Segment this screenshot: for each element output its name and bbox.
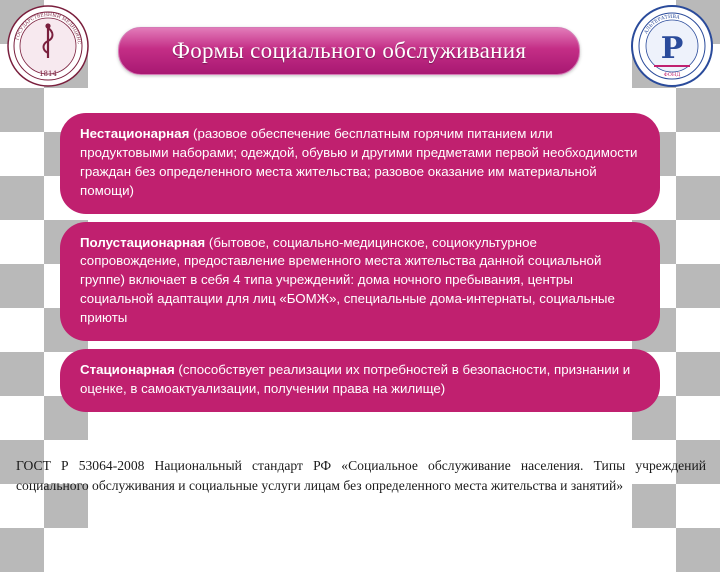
slide-title-banner: Формы социального обслуживания [118, 27, 580, 75]
page-title: Формы социального обслуживания [172, 38, 526, 64]
block-nestacionarnaya: Нестационарная (разовое обеспечение бесп… [60, 113, 660, 214]
organization-logo: Р АЛЬТЕРАТИВА ФОНД [630, 4, 714, 88]
checker-cell [676, 528, 720, 572]
footer-citation-text: ГОСТ Р 53064-2008 Национальный стандарт … [16, 456, 706, 496]
university-emblem-logo: 1814 ГОСУДАРСТВЕННЫЙ МЕДИЦИНСКИЙ [6, 4, 90, 88]
svg-text:Р: Р [661, 31, 684, 66]
checker-cell [676, 352, 720, 396]
checker-cell [676, 308, 720, 352]
checker-cell [0, 528, 44, 572]
checker-cell [0, 132, 44, 176]
checker-cell [676, 396, 720, 440]
content-block-list: Нестационарная (разовое обеспечение бесп… [60, 113, 660, 420]
checker-cell [0, 176, 44, 220]
checker-cell [676, 176, 720, 220]
block-lead-label: Стационарная [80, 362, 175, 377]
block-stacionarnaya: Стационарная (способствует реализации их… [60, 349, 660, 412]
checker-cell [0, 308, 44, 352]
checker-cell [676, 220, 720, 264]
svg-text:1814: 1814 [39, 70, 57, 78]
checker-cell [0, 352, 44, 396]
svg-text:ФОНД: ФОНД [664, 72, 681, 78]
block-lead-label: Нестационарная [80, 126, 189, 141]
checker-cell [0, 88, 44, 132]
checker-cell [0, 396, 44, 440]
checker-cell [632, 528, 676, 572]
checker-cell [44, 528, 88, 572]
checker-cell [0, 220, 44, 264]
checker-cell [676, 264, 720, 308]
footer-citation: ГОСТ Р 53064-2008 Национальный стандарт … [16, 456, 706, 496]
block-lead-label: Полустационарная [80, 235, 205, 250]
checker-cell [676, 88, 720, 132]
checker-cell [676, 132, 720, 176]
checker-cell [0, 264, 44, 308]
block-polustacionarnaya: Полустационарная (бытовое, социально-мед… [60, 222, 660, 341]
